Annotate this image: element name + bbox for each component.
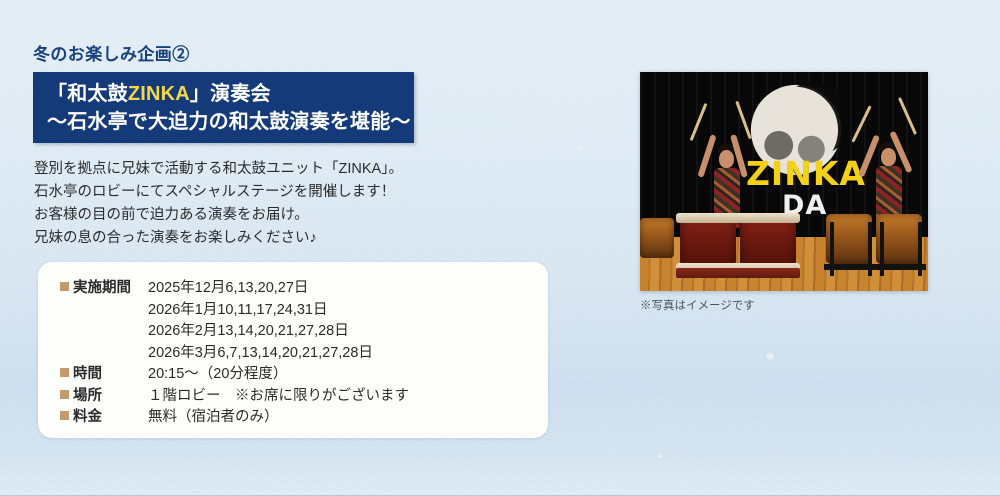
bullet-square-icon bbox=[60, 282, 69, 291]
table-row: 実施期間 2025年12月6,13,20,27日 2026年1月10,11,17… bbox=[60, 278, 409, 364]
detail-label-period: 実施期間 bbox=[60, 278, 148, 364]
bullet-square-icon bbox=[60, 411, 69, 420]
title-banner: 「和太鼓ZINKA」演奏会 〜石水亭で大迫力の和太鼓演奏を堪能〜 bbox=[33, 72, 414, 143]
drum-stand-leg bbox=[830, 222, 834, 276]
performer-head bbox=[719, 150, 734, 168]
detail-label-time: 時間 bbox=[60, 364, 148, 386]
performer-head bbox=[881, 148, 896, 166]
table-row: 料金 無料（宿泊者のみ） bbox=[60, 407, 409, 429]
bullet-square-icon bbox=[60, 368, 69, 377]
detail-label-text: 料金 bbox=[73, 409, 102, 425]
detail-label-venue: 場所 bbox=[60, 386, 148, 408]
lead-line-3: お客様の目の前で迫力ある演奏をお届け。 bbox=[34, 204, 504, 227]
taiko-drum-side bbox=[640, 218, 674, 258]
detail-value-venue: １階ロビー ※お席に限りがございます bbox=[148, 386, 409, 408]
taiko-drum-red bbox=[680, 216, 736, 270]
banner-line-1: 「和太鼓ZINKA」演奏会 bbox=[47, 80, 414, 108]
detail-value-period: 2025年12月6,13,20,27日 2026年1月10,11,17,24,3… bbox=[148, 278, 409, 364]
lead-paragraph: 登別を拠点に兄妹で活動する和太鼓ユニット「ZINKA」。 石水亭のロビーにてスペ… bbox=[34, 158, 504, 250]
period-line-3: 2026年2月13,14,20,21,27,28日 bbox=[148, 321, 409, 343]
event-photo: ZINKA DA bbox=[640, 72, 928, 291]
banner-line-2: 〜石水亭で大迫力の和太鼓演奏を堪能〜 bbox=[47, 108, 414, 136]
table-row: 場所 １階ロビー ※お席に限りがございます bbox=[60, 386, 409, 408]
lead-line-2: 石水亭のロビーにてスペシャルステージを開催します！ bbox=[34, 181, 504, 204]
taiko-drum-red bbox=[740, 216, 796, 270]
drum-stand-leg bbox=[880, 222, 884, 276]
event-photo-wrapper: ZINKA DA bbox=[640, 72, 928, 291]
stage-logo-zinka: ZINKA bbox=[746, 154, 866, 193]
detail-value-price: 無料（宿泊者のみ） bbox=[148, 407, 409, 429]
section-kicker: 冬のお楽しみ企画② bbox=[33, 40, 190, 65]
lead-line-4: 兄妹の息の合った演奏をお楽しみください♪ bbox=[34, 227, 504, 250]
venue-line-1: １階ロビー ※お席に限りがございます bbox=[148, 386, 409, 408]
detail-label-text: 時間 bbox=[73, 366, 102, 382]
period-line-1: 2025年12月6,13,20,27日 bbox=[148, 278, 409, 300]
event-details-card: 実施期間 2025年12月6,13,20,27日 2026年1月10,11,17… bbox=[38, 262, 548, 438]
promo-page: 冬のお楽しみ企画② 「和太鼓ZINKA」演奏会 〜石水亭で大迫力の和太鼓演奏を堪… bbox=[0, 0, 1000, 496]
event-details-table: 実施期間 2025年12月6,13,20,27日 2026年1月10,11,17… bbox=[60, 278, 409, 429]
banner-title-highlight: ZINKA bbox=[128, 83, 190, 105]
drum-stand-leg bbox=[918, 222, 922, 276]
price-line-1: 無料（宿泊者のみ） bbox=[148, 407, 409, 429]
period-line-2: 2026年1月10,11,17,24,31日 bbox=[148, 300, 409, 322]
lead-line-1: 登別を拠点に兄妹で活動する和太鼓ユニット「ZINKA」。 bbox=[34, 158, 504, 181]
period-line-4: 2026年3月6,7,13,14,20,21,27,28日 bbox=[148, 343, 409, 365]
detail-label-text: 実施期間 bbox=[73, 280, 131, 296]
table-row: 時間 20:15〜（20分程度） bbox=[60, 364, 409, 386]
detail-label-text: 場所 bbox=[73, 388, 102, 404]
banner-title-suffix: 」演奏会 bbox=[190, 83, 271, 105]
drum-stand-leg bbox=[868, 222, 872, 276]
detail-label-price: 料金 bbox=[60, 407, 148, 429]
bullet-square-icon bbox=[60, 390, 69, 399]
time-line-1: 20:15〜（20分程度） bbox=[148, 364, 409, 386]
banner-title-prefix: 「和太鼓 bbox=[47, 83, 128, 105]
drum-base bbox=[676, 268, 740, 278]
photo-caption: ※写真はイメージです bbox=[640, 297, 755, 313]
drum-base bbox=[736, 268, 800, 278]
detail-value-time: 20:15〜（20分程度） bbox=[148, 364, 409, 386]
